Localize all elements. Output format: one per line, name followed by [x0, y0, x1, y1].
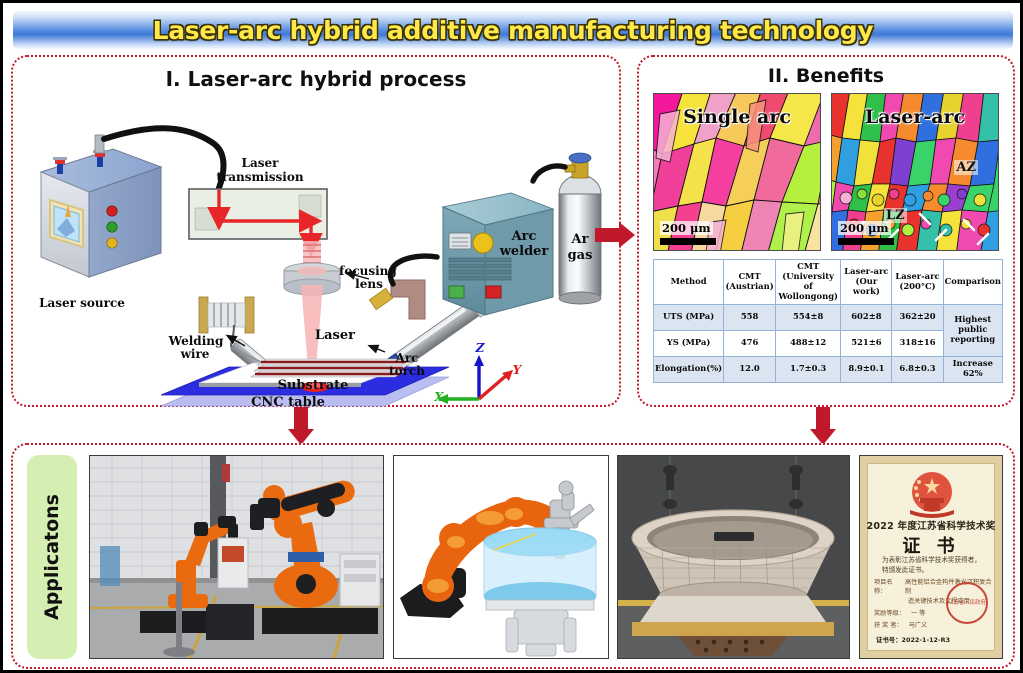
certificate-field2-value: 一 等: [911, 609, 925, 618]
certificate-field3-label: 获 奖 者：: [874, 621, 903, 630]
row-label-ys: YS (MPa): [654, 330, 724, 356]
row-label-uts: UTS (MPa): [654, 304, 724, 330]
th-cmt-wollongong: CMT (University of Wollongong): [775, 260, 840, 305]
label-arc-torch-line2: torch: [381, 365, 433, 378]
cell-ys-laser-arc-our-work: 521±6: [841, 330, 892, 356]
cell-elong-laser-arc-200c: 6.8±0.3: [892, 356, 943, 382]
panel-benefits: II. Benefits: [637, 55, 1015, 407]
cell-ys-cmt-austrian: 476: [724, 330, 776, 356]
conical-part-scene: [618, 456, 849, 658]
photo-printed-conical-part: [617, 455, 850, 659]
certificate-field1-label: 项目名称：: [874, 578, 903, 597]
scalebar-line-laser-arc: [838, 238, 894, 245]
national-emblem-icon: [902, 470, 962, 518]
photo-robot-arm-rendering: [393, 455, 609, 659]
cell-uts-laser-arc-our-work: 602±8: [841, 304, 892, 330]
label-ar-gas-line2: gas: [559, 249, 601, 263]
label-axis-y: Y: [509, 364, 525, 377]
label-laser-transmission-line1: Laser: [225, 157, 295, 170]
table-row-uts: UTS (MPa) 558 554±8 602±8 362±20 Highest…: [654, 304, 1003, 330]
label-substrate: Substrate: [261, 379, 365, 393]
photo-award-certificate: 2022 年度江苏省科学技术奖 证 书 为表彰江苏省科学技术奖获得者， 特颁发此…: [859, 455, 1003, 659]
official-seal-icon: 江苏省人民政府: [946, 582, 988, 624]
label-axis-z: Z: [472, 342, 488, 355]
th-method-l1: Method: [655, 277, 722, 287]
label-arc-welder-line2: welder: [491, 245, 557, 259]
label-ar-gas-line1: Ar: [562, 233, 598, 247]
certificate-field3-value: 马广义: [909, 621, 928, 630]
ebsd-title-single-arc: Single arc: [654, 106, 820, 128]
th-laser-arc-our-work: Laser-arc (Our work): [841, 260, 892, 305]
ebsd-title-laser-arc: Laser-arc: [832, 106, 998, 128]
th-laser-arc-our-work-l2: (Our work): [842, 277, 890, 297]
infographic-page: Laser-arc hybrid additive manufacturing …: [0, 0, 1023, 673]
robot-cell-scene: [90, 456, 383, 658]
certificate-body-l1: 为表彰江苏省科学技术奖获得者，: [882, 556, 986, 566]
cell-uts-laser-arc-200c: 362±20: [892, 304, 943, 330]
scalebar-label-laser-arc: 200 μm: [838, 221, 891, 235]
scalebar-laser-arc: 200 μm: [838, 219, 894, 245]
label-axis-x: X: [431, 391, 447, 404]
page-title: Laser-arc hybrid additive manufacturing …: [153, 16, 874, 45]
label-focusing-lens-line2: lens: [345, 278, 393, 291]
ebsd-map-single-arc: Single arc 200 μm: [653, 93, 821, 251]
title-banner: Laser-arc hybrid additive manufacturing …: [13, 11, 1013, 49]
certificate-body-l2: 特颁发此证书。: [882, 566, 986, 576]
panel-laser-arc-hybrid-process: I. Laser-arc hybrid process: [11, 55, 621, 407]
red-down-arrow-process-to-applications: [287, 407, 315, 447]
label-laser-source: Laser source: [27, 297, 137, 310]
th-comparison-l1: Comparison: [945, 277, 1001, 287]
robot-arm-render: [394, 456, 608, 658]
applications-side-tag: Applicatons: [27, 455, 77, 659]
th-laser-arc-200c-l2: (200°C): [893, 282, 941, 292]
th-cmt-austrian: CMT (Austrian): [724, 260, 776, 305]
certificate-field2-label: 奖励等级：: [874, 609, 905, 618]
cell-uts-cmt-austrian: 558: [724, 304, 776, 330]
label-focusing-lens-line1: focusing: [333, 265, 403, 278]
label-laser: Laser: [311, 329, 359, 343]
red-down-arrow-benefits-to-applications: [809, 407, 837, 447]
th-method: Method: [654, 260, 724, 305]
th-comparison: Comparison: [943, 260, 1002, 305]
mechanical-properties-comparison-table: Method CMT (Austrian) CMT (University of…: [653, 259, 1003, 383]
cell-elong-cmt-austrian: 12.0: [724, 356, 776, 382]
row-label-elongation: Elongation(%): [654, 356, 724, 382]
label-arc-torch-line1: Arc: [387, 352, 427, 365]
cmp-top-l3: reporting: [945, 335, 1001, 345]
applications-tag-label: Applicatons: [41, 494, 63, 620]
cmp-bottom-l2: 62%: [945, 369, 1001, 379]
panel-applications: Applicatons: [11, 443, 1015, 669]
photo-dual-robot-cell: [89, 455, 384, 659]
label-welding-wire-line2: wire: [169, 348, 221, 361]
scalebar-line-single-arc: [660, 238, 716, 245]
red-right-arrow-process-to-benefits: [595, 221, 637, 249]
cell-ys-laser-arc-200c: 318±16: [892, 330, 943, 356]
table-row-elongation: Elongation(%) 12.0 1.7±0.3 8.9±0.1 6.8±0…: [654, 356, 1003, 382]
th-cmt-wollongong-l3: Wollongong): [777, 292, 839, 302]
table-header-row: Method CMT (Austrian) CMT (University of…: [654, 260, 1003, 305]
th-cmt-wollongong-l2: (University of: [777, 272, 839, 292]
scalebar-label-single-arc: 200 μm: [660, 221, 713, 235]
cell-comparison-highest-public-reporting: Highest public reporting: [943, 304, 1002, 356]
zone-label-az: AZ: [954, 160, 978, 175]
cell-uts-cmt-wollongong: 554±8: [775, 304, 840, 330]
cell-comparison-increase: Increase 62%: [943, 356, 1002, 382]
panel-benefits-heading: II. Benefits: [639, 65, 1013, 87]
cell-ys-cmt-wollongong: 488±12: [775, 330, 840, 356]
certificate-line1: 2022 年度江苏省科学技术奖: [860, 518, 1002, 532]
scalebar-single-arc: 200 μm: [660, 219, 716, 245]
cell-elong-cmt-wollongong: 1.7±0.3: [775, 356, 840, 382]
seal-text: 江苏省人民政府: [948, 600, 986, 606]
label-arc-welder-line1: Arc: [501, 230, 547, 244]
th-laser-arc-200c: Laser-arc (200°C): [892, 260, 943, 305]
ebsd-map-laser-arc: Laser-arc AZ LZ 200 μm: [831, 93, 999, 251]
th-cmt-austrian-l2: (Austrian): [725, 282, 774, 292]
certificate-line2: 证 书: [860, 532, 1002, 558]
certificate-number: 证书号：2022-1-12-R3: [876, 635, 950, 644]
cell-elong-laser-arc-our-work: 8.9±0.1: [841, 356, 892, 382]
label-welding-wire-line1: Welding: [161, 335, 231, 348]
label-laser-transmission-line2: transmission: [207, 171, 313, 184]
